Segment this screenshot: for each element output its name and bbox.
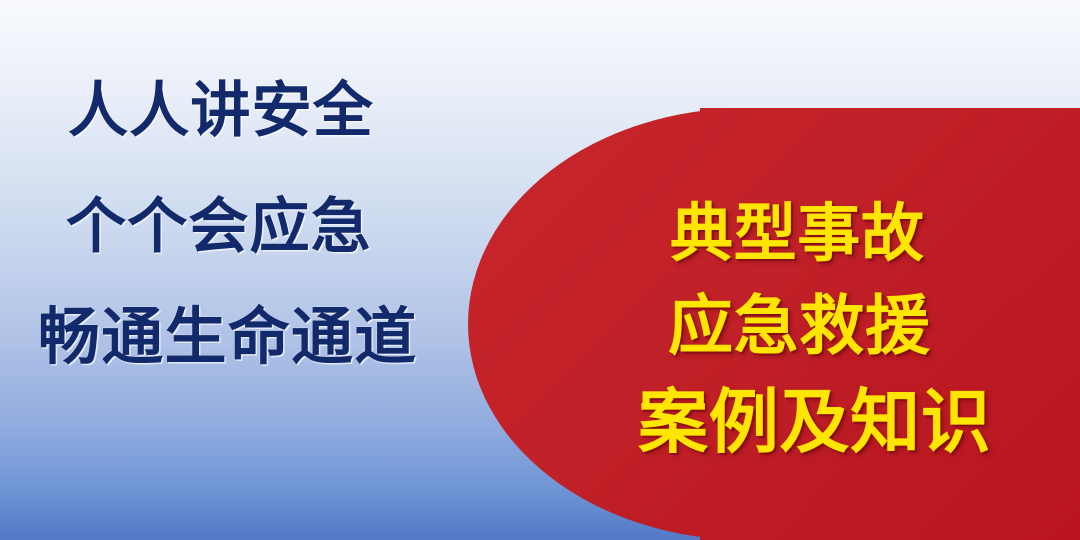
headline-line-3: 案例及知识: [638, 366, 992, 467]
slogan-line-3: 畅通生命通道: [38, 286, 417, 376]
slogan-line-1: 人人讲安全: [68, 62, 374, 149]
safety-campaign-banner: 人人讲安全 个个会应急 畅通生命通道 典型事故 应急救援 案例及知识: [0, 0, 1080, 540]
headline-line-2: 应急救援: [668, 273, 931, 367]
headline-block: 典型事故 应急救援 案例及知识: [560, 108, 1080, 540]
slogan-block: 人人讲安全 个个会应急 畅通生命通道: [0, 0, 470, 540]
slogan-line-2: 个个会应急: [66, 178, 372, 265]
headline-line-1: 典型事故: [670, 183, 925, 274]
